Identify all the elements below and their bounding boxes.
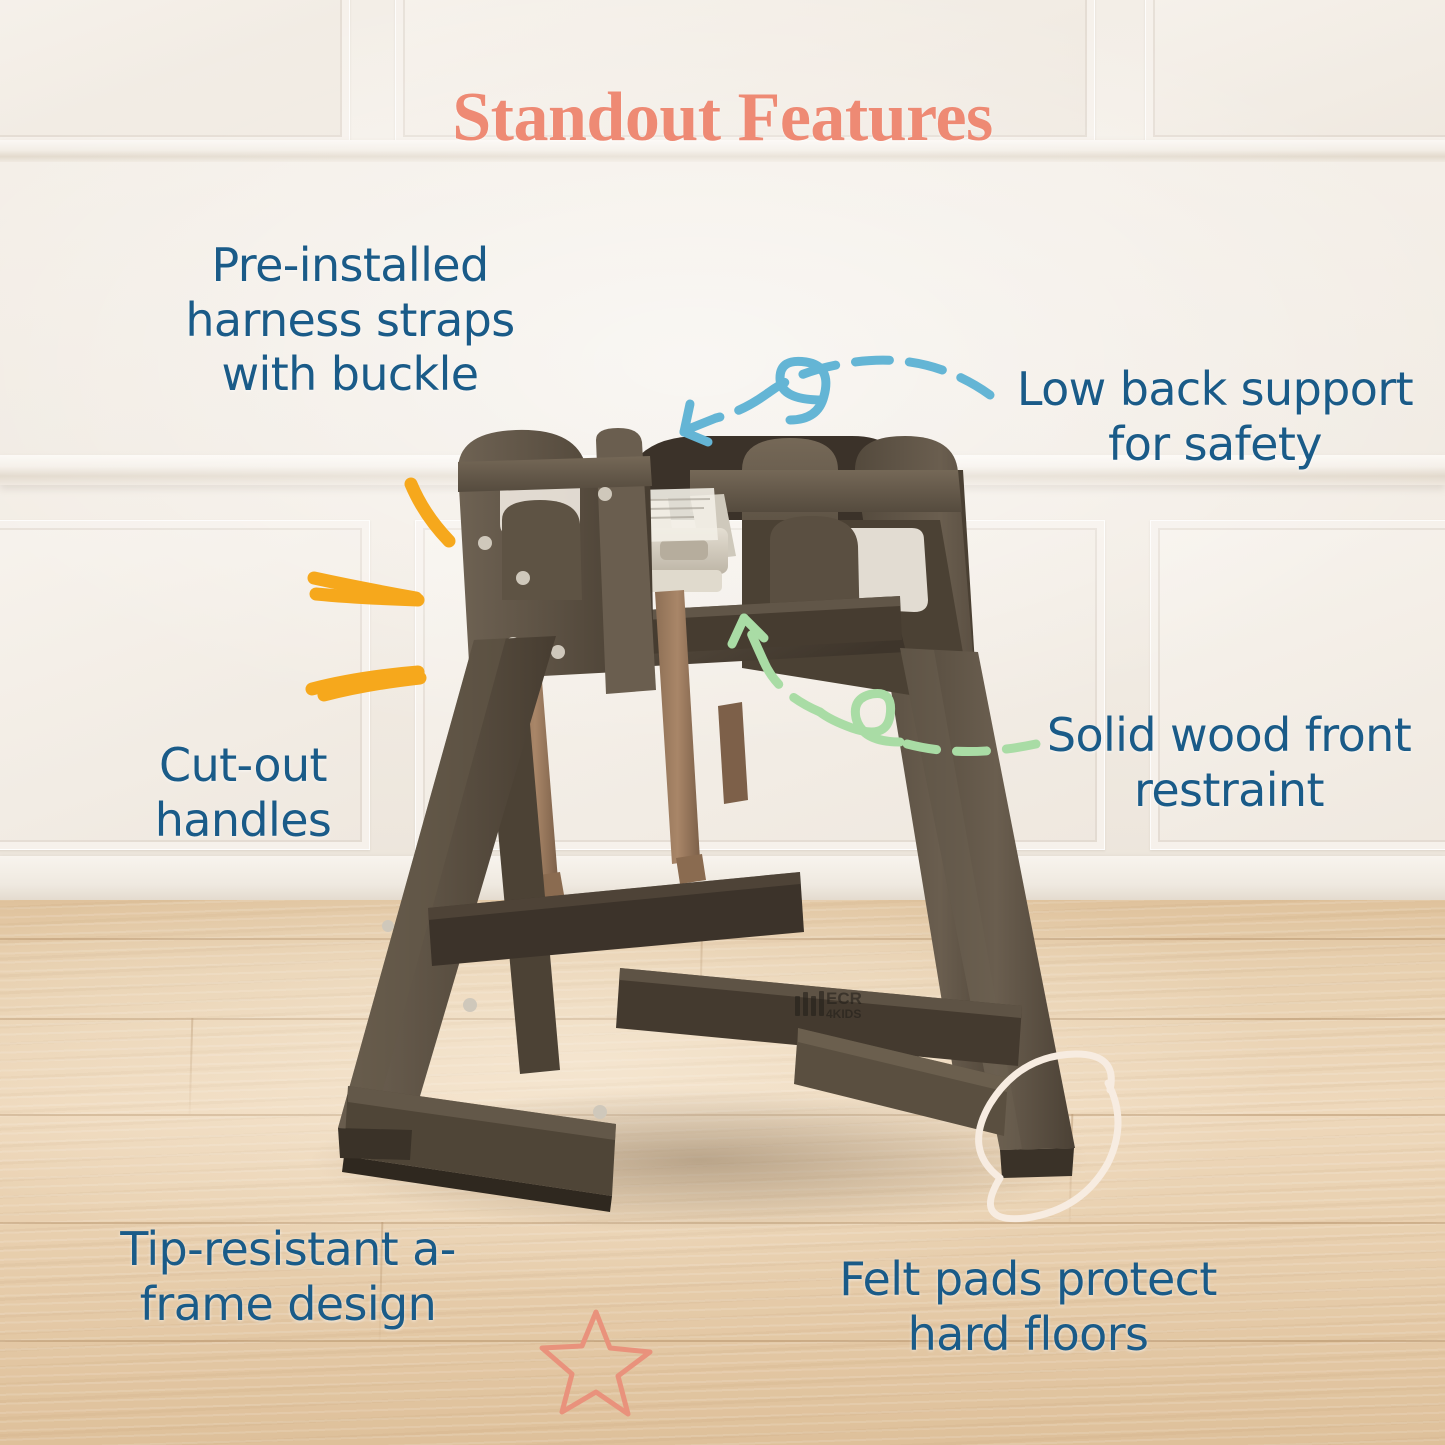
harness-strap-tip-center — [676, 854, 706, 884]
callout-solid-wood-front-restraint: Solid wood front restraint — [1013, 708, 1445, 817]
svg-text:ECR: ECR — [826, 989, 862, 1008]
callout-cut-out-handles: Cut-out handles — [78, 738, 408, 847]
chair-screw — [516, 571, 530, 585]
chair-foot-pad-right — [1000, 1148, 1074, 1178]
infographic-canvas: ECR 4KIDS — [0, 0, 1445, 1445]
chair-right-top-rail — [690, 470, 962, 512]
harness-buckle-tail-right — [718, 702, 748, 804]
chair-screw — [382, 920, 394, 932]
callout-harness: Pre-installed harness straps with buckle — [140, 238, 560, 402]
callout-felt-pads: Felt pads protect hard floors — [808, 1252, 1248, 1361]
chair-screw — [593, 1105, 607, 1119]
chair-screw — [598, 487, 612, 501]
callout-low-back-support: Low back support for safety — [1000, 362, 1430, 471]
chair-screw — [478, 536, 492, 550]
svg-text:4KIDS: 4KIDS — [826, 1007, 861, 1021]
page-title: Standout Features — [0, 78, 1445, 158]
chair-foot-pad-left — [338, 1128, 412, 1160]
harness-buckle-button — [660, 540, 708, 560]
callout-tip-resistant-a-frame: Tip-resistant a-frame design — [58, 1222, 518, 1331]
chair-left-inner-curve — [502, 500, 582, 600]
chair-screw — [551, 645, 565, 659]
chair-screw — [463, 998, 477, 1012]
harness-buckle-latch — [646, 570, 722, 592]
chair-left-top-rail — [458, 456, 652, 492]
